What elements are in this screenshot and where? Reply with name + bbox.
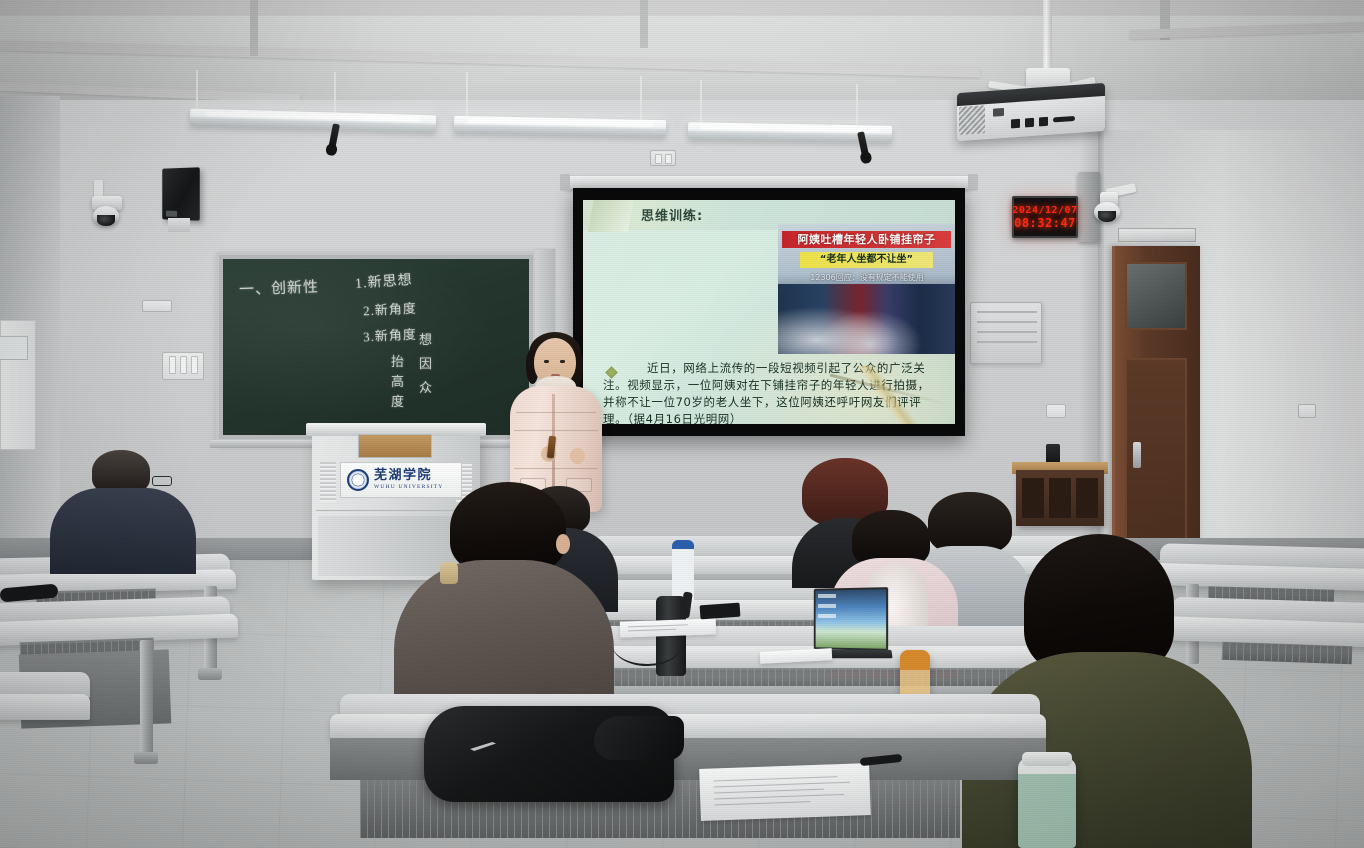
attendee-left-back	[48, 450, 198, 560]
cabinet-cup	[1046, 444, 1060, 464]
backpack-strap	[594, 716, 684, 760]
paper-stack	[699, 763, 871, 821]
wall-sign-plate	[142, 300, 172, 312]
attendee-foreground-olive	[962, 534, 1252, 848]
water-bottle-green	[1018, 758, 1076, 848]
wall-speaker-left	[162, 167, 200, 220]
blackboard: 一、创新性1.新思想2.新角度3.新角度抬高度想因众	[216, 252, 536, 442]
university-seal-icon	[347, 469, 369, 491]
chalk-line: 想	[419, 329, 433, 348]
cabinet	[1016, 470, 1104, 526]
news-headline-ticker: 12306回应：没有规定不能使用	[784, 271, 950, 284]
door-transom	[1118, 228, 1196, 242]
podium-wood-insert	[358, 434, 432, 458]
news-screenshot: 阿姨吐槽年轻人卧铺挂帘子 “老年人坐都不让坐” 12306回应：没有规定不能使用	[778, 224, 955, 354]
wall-outlet[interactable]	[1298, 404, 1316, 418]
chalk-line: 度	[391, 391, 405, 410]
chalk-line: 抬	[391, 351, 405, 370]
presentation-slide: 思维训练: 阿姨吐槽年轻人卧铺挂帘子 “老年人坐都不让坐” 12306回应：没有…	[583, 200, 955, 424]
screen-roller-end	[968, 174, 978, 191]
light-switch-panel[interactable]	[162, 352, 204, 380]
laptop-icons	[818, 594, 836, 622]
desk-left-3	[0, 694, 90, 720]
chalk-line: 一、创新性	[239, 276, 320, 300]
wall-electrical-panel	[970, 302, 1042, 364]
projection-screen-surface: 思维训练: 阿姨吐槽年轻人卧铺挂帘子 “老年人坐都不让坐” 12306回应：没有…	[583, 200, 955, 424]
chalk-line: 3.新角度	[363, 324, 418, 346]
smartphone[interactable]	[700, 603, 741, 620]
side-whiteboard-panel	[0, 336, 28, 360]
desk-foot	[134, 752, 158, 764]
light-rod	[856, 84, 858, 126]
chalk-line: 2.新角度	[363, 298, 418, 320]
desk-leg	[140, 640, 153, 758]
led-clock: 2024/12/07 08:32:47	[1012, 196, 1078, 238]
flask-cap	[1022, 752, 1072, 766]
wall-speaker-bracket	[168, 218, 190, 232]
podium-vent-left	[320, 462, 336, 502]
university-name-cn: 芜湖学院	[374, 469, 443, 483]
attendee-jacket	[50, 488, 196, 574]
projection-screen: 思维训练: 阿姨吐槽年轻人卧铺挂帘子 “老年人坐都不让坐” 12306回应：没有…	[573, 188, 965, 436]
lecturer-hand-right	[570, 448, 585, 464]
chalk-line: 1.新思想	[354, 269, 413, 293]
dome-camera-left	[93, 206, 119, 226]
led-clock-date: 2024/12/07	[1012, 205, 1077, 216]
led-clock-time: 08:32:47	[1014, 216, 1076, 230]
projector-pole	[1043, 0, 1052, 74]
charging-cable	[612, 622, 682, 666]
attendee-ear	[556, 534, 570, 554]
attendee-center-front	[394, 482, 614, 722]
light-rod	[640, 76, 642, 122]
classroom-photo: 一、创新性1.新思想2.新角度3.新角度抬高度想因众 思维训练: 阿姨吐槽年轻人…	[0, 0, 1364, 848]
blackboard-surface: 一、创新性1.新思想2.新角度3.新角度抬高度想因众	[223, 259, 529, 435]
news-headline-main: 阿姨吐槽年轻人卧铺挂帘子	[782, 231, 951, 248]
chalk-line: 因	[419, 353, 433, 372]
chalk-line: 众	[419, 377, 433, 396]
news-headline-sub: “老年人坐都不让坐”	[800, 252, 933, 268]
chalk-line: 高	[391, 371, 405, 390]
slide-pen-decoration	[817, 359, 955, 424]
light-rod	[196, 70, 198, 114]
slide-title: 思维训练:	[641, 205, 703, 224]
light-rod	[466, 72, 468, 120]
ceiling-switch-plate[interactable]	[650, 150, 676, 166]
dome-camera-right	[1094, 202, 1120, 222]
small-cup	[440, 562, 458, 584]
screen-roller-end	[560, 174, 570, 191]
door-handle[interactable]	[1133, 442, 1141, 468]
wall-outlet[interactable]	[1046, 404, 1066, 418]
door-window	[1125, 262, 1187, 330]
desk-foot	[198, 668, 222, 680]
light-rod	[700, 80, 702, 124]
